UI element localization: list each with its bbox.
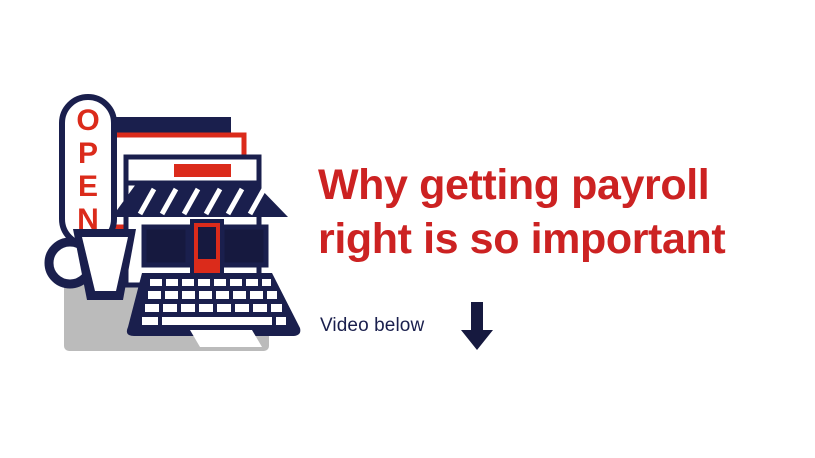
storefront-red-sign-bar	[174, 164, 231, 177]
laptop-trackpad	[190, 330, 262, 347]
open-sign: O P E N	[62, 97, 114, 245]
left-window	[144, 227, 188, 265]
open-sign-letter-p: P	[78, 137, 98, 170]
headline-line-2: right is so important	[318, 212, 778, 266]
headline-line-1: Why getting payroll	[318, 158, 778, 212]
video-below-row: Video below	[320, 300, 494, 352]
video-below-label: Video below	[320, 315, 424, 337]
open-sign-letter-o: O	[76, 104, 99, 137]
arrow-down-icon	[460, 300, 494, 352]
coffee-mug	[49, 229, 136, 300]
open-sign-letter-e: E	[78, 170, 98, 203]
door-panel	[198, 227, 216, 259]
laptop-base	[127, 273, 300, 347]
page-title: Why getting payroll right is so importan…	[318, 158, 778, 266]
back-building-navy-bar	[109, 117, 231, 135]
slide-canvas: O P E N Why getting payroll right is so …	[0, 0, 815, 458]
right-window	[222, 227, 266, 265]
awning	[112, 184, 288, 217]
small-business-storefront-laptop-illustration: O P E N	[40, 85, 320, 365]
